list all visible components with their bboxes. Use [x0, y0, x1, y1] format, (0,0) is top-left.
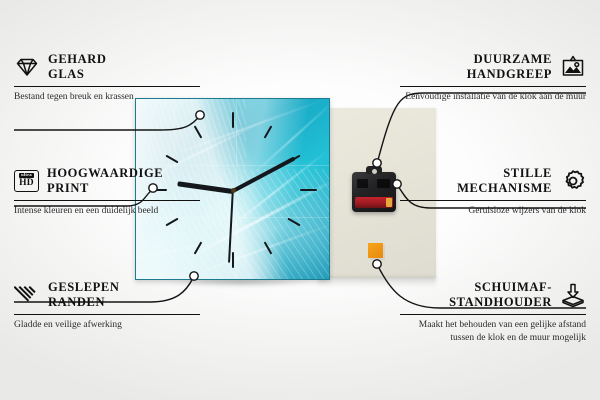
feature-title: GEHARD GLAS: [48, 52, 106, 82]
feature-header: GESLEPEN RANDEN: [14, 280, 200, 310]
quartz-clock-movement: [352, 172, 396, 212]
feature-header: STILLE MECHANISME: [400, 166, 586, 196]
feature-description: Gladde en veilige afwerking: [14, 319, 200, 332]
framed-picture-icon: [560, 54, 586, 80]
foam-spacer-pad: [368, 243, 383, 258]
clock-tick-12: [232, 112, 234, 128]
feature-duurzame-handgreep: DUURZAME HANDGREEP Eenvoudige installati…: [400, 52, 586, 104]
movement-hanger-hole: [372, 169, 377, 174]
feature-description: Geruisloze wijzers van de klok: [400, 205, 586, 218]
feature-title: HOOGWAARDIGE PRINT: [47, 166, 163, 196]
movement-slot: [357, 179, 368, 188]
feature-schuimafstandhouder: SCHUIMAF- STANDHOUDER Maakt het behouden…: [400, 280, 586, 345]
feature-header: DUURZAME HANDGREEP: [400, 52, 586, 82]
movement-slot: [377, 179, 390, 188]
feature-description: Intense kleuren en een duidelijk beeld: [14, 205, 200, 218]
feature-rule: [400, 314, 586, 315]
feature-description: Bestand tegen breuk en krassen: [14, 91, 200, 104]
clock-hand-hub: [231, 188, 236, 193]
ultra-hd-badge-main: HD: [19, 179, 34, 189]
movement-battery: [355, 197, 393, 208]
feature-title: GESLEPEN RANDEN: [48, 280, 120, 310]
feature-rule: [400, 200, 586, 201]
clock-tick-3: [300, 189, 317, 191]
clock-tick-1: [264, 125, 273, 138]
gear-icon: [560, 168, 586, 194]
feature-hoogwaardige-print: ultra HD HOOGWAARDIGE PRINT Intense kleu…: [14, 166, 200, 218]
feature-gehard-glas: GEHARD GLAS Bestand tegen breuk en krass…: [14, 52, 200, 104]
bevelled-edges-icon: [14, 284, 40, 306]
feature-header: GEHARD GLAS: [14, 52, 200, 82]
infographic-canvas: GEHARD GLAS Bestand tegen breuk en krass…: [0, 0, 600, 400]
ultra-hd-icon: ultra HD: [14, 170, 39, 192]
feature-rule: [14, 86, 200, 87]
feature-rule: [14, 314, 200, 315]
arrow-down-onto-pad-icon: [560, 282, 586, 308]
feature-geslepen-randen: GESLEPEN RANDEN Gladde en veilige afwerk…: [14, 280, 200, 332]
feature-stille-mechanisme: STILLE MECHANISME Geruisloze wijzers van…: [400, 166, 586, 218]
feature-description: Eenvoudige installatie van de klok aan d…: [400, 91, 586, 104]
feature-description: Maakt het behouden van een gelijke afsta…: [400, 319, 586, 345]
feature-header: SCHUIMAF- STANDHOUDER: [400, 280, 586, 310]
feature-header: ultra HD HOOGWAARDIGE PRINT: [14, 166, 200, 196]
feature-title: SCHUIMAF- STANDHOUDER: [449, 280, 552, 310]
feature-title: STILLE MECHANISME: [457, 166, 552, 196]
feature-rule: [400, 86, 586, 87]
clock-tick-6: [232, 252, 234, 268]
feature-title: DUURZAME HANDGREEP: [467, 52, 552, 82]
diamond-icon: [14, 54, 40, 80]
feature-rule: [14, 200, 200, 201]
